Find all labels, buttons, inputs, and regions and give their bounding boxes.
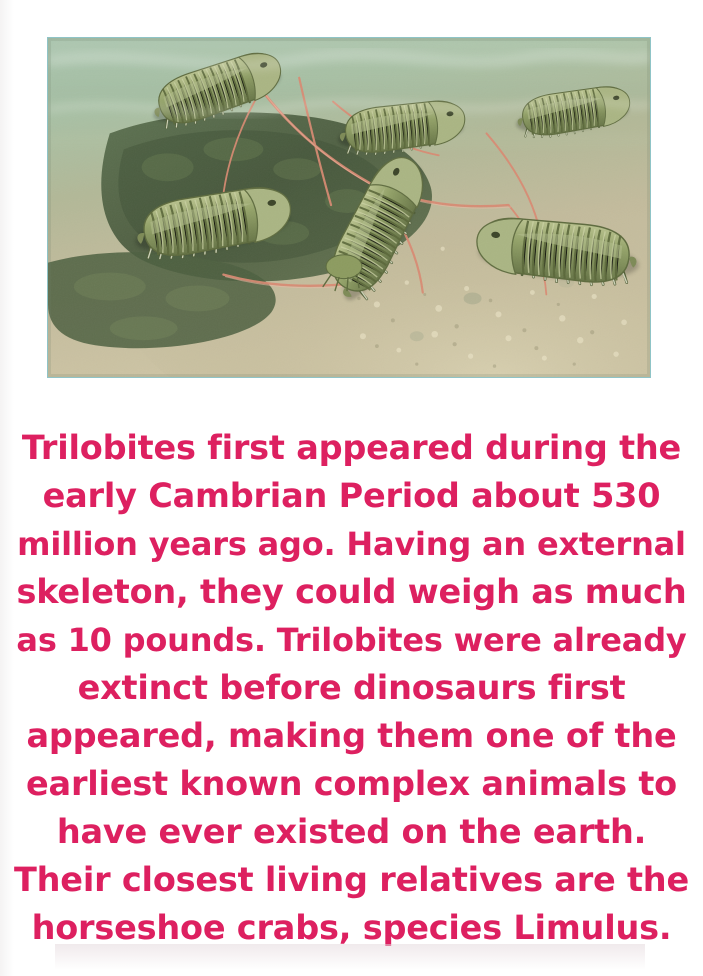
caption-line: horseshoe crabs, species Limulus. [14,904,689,952]
caption-line: skeleton, they could weigh as much [14,568,689,616]
fact-card: Trilobites first appeared during the ear… [0,0,703,976]
caption-line: earliest known complex animals to [14,760,689,808]
trilobite-photo-illustration [48,38,650,377]
caption-line: have ever existed on the earth. [14,808,689,856]
caption-line: appeared, making them one of the [14,712,689,760]
caption-line: extinct before dinosaurs first [14,664,689,712]
trilobite-photo [47,37,651,378]
caption-line: early Cambrian Period about 530 [14,472,689,520]
caption-line: as 10 pounds. Trilobites were already [14,616,689,664]
caption-line: million years ago. Having an external [14,520,689,568]
caption-line: Trilobites first appeared during the [14,424,689,472]
page-left-shadow [0,0,14,976]
caption-line: Their closest living relatives are the [14,856,689,904]
caption-text-block: Trilobites first appeared during the ear… [14,424,689,952]
